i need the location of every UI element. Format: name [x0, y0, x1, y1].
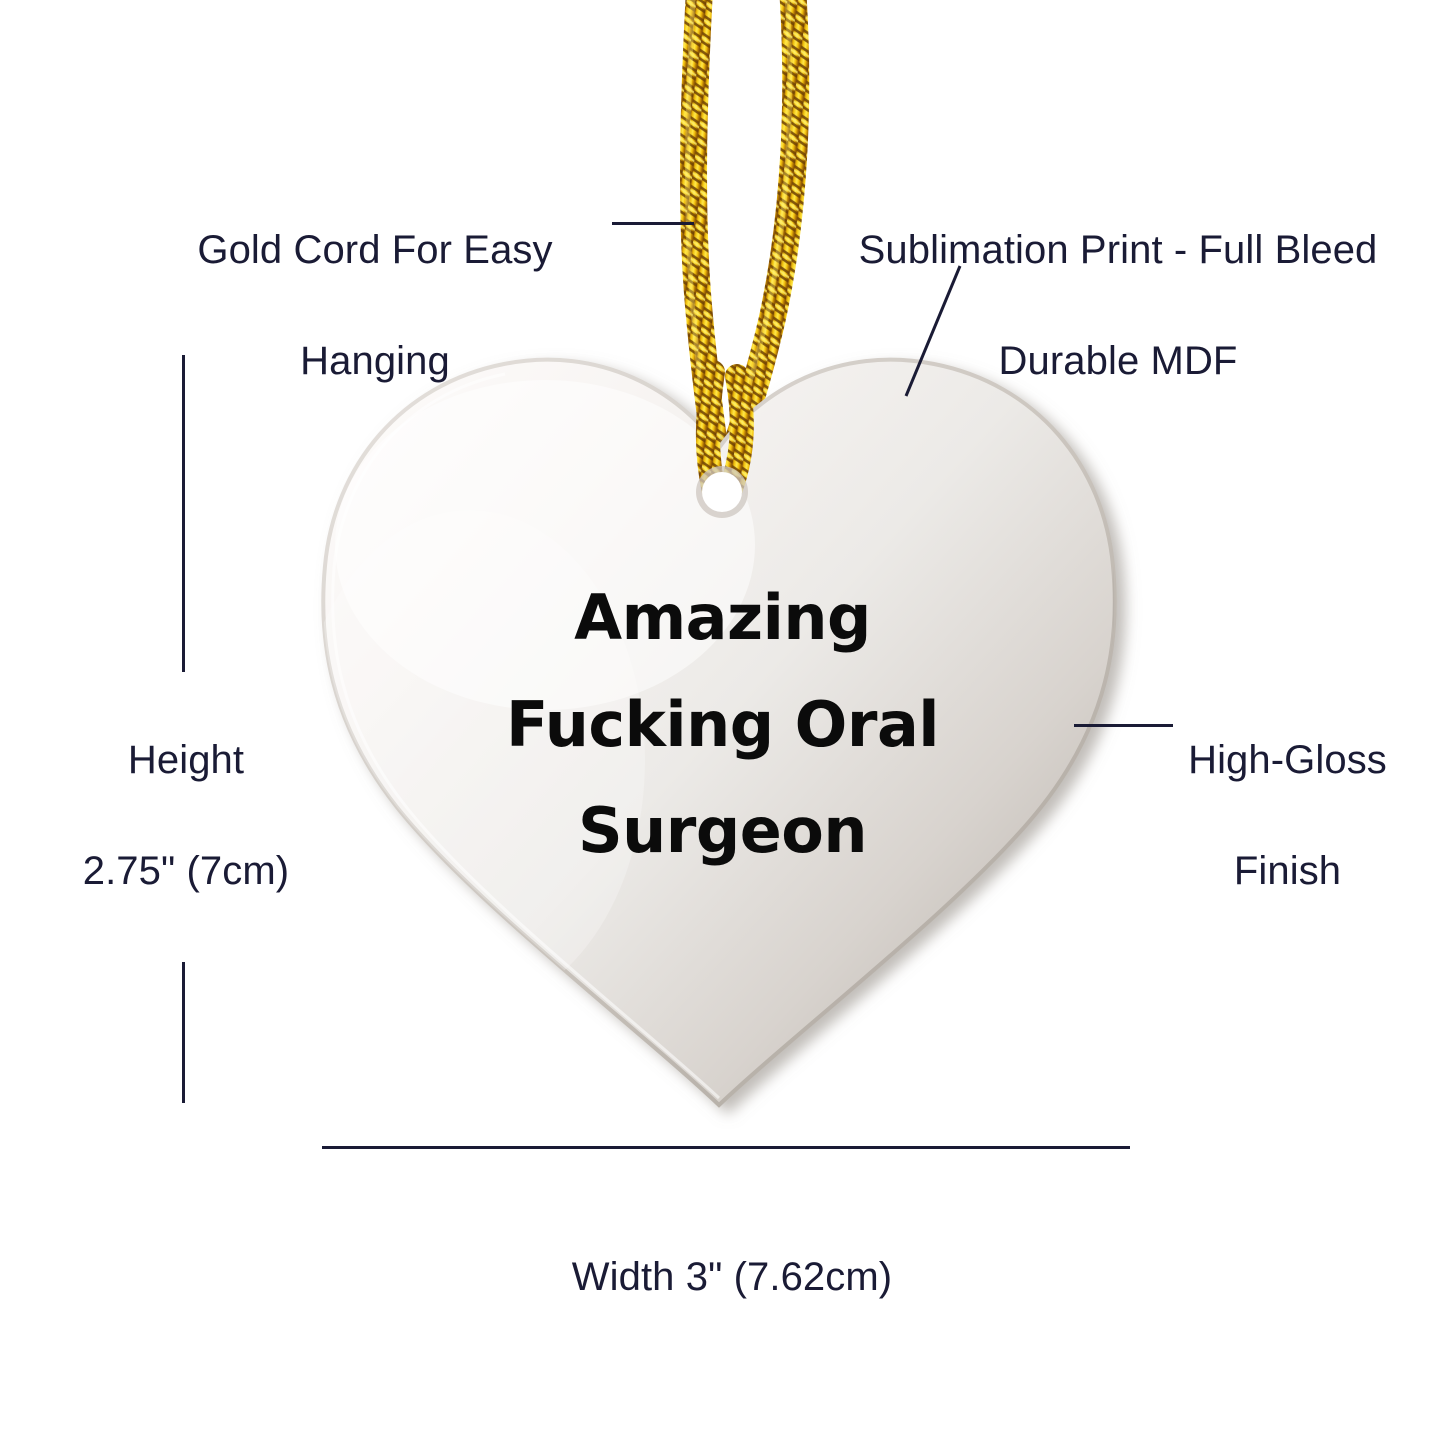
annotation-height-label: Height — [62, 733, 310, 788]
gold-cord-loop — [708, 372, 742, 494]
annotation-high-gloss-line-2: Finish — [1180, 844, 1395, 899]
annotation-sublimation-print: Sublimation Print - Full Bleed Durable M… — [848, 168, 1388, 444]
product-infographic: Amazing Fucking Oral Surgeon Gold Cord F… — [0, 0, 1445, 1445]
gold-cord-strand-right — [720, 0, 796, 478]
ornament-text-line-2: Fucking Oral — [430, 672, 1015, 779]
annotation-width: Width 3" (7.62cm) — [452, 1195, 1012, 1361]
ornament-text: Amazing Fucking Oral Surgeon — [430, 565, 1015, 885]
ornament-text-line-1: Amazing — [430, 565, 1015, 672]
annotation-gold-cord-line-1: Gold Cord For Easy — [150, 223, 600, 278]
annotation-gold-cord: Gold Cord For Easy Hanging — [150, 168, 600, 444]
hanging-hole — [696, 466, 748, 518]
annotation-height-value: 2.75" (7cm) — [62, 844, 310, 899]
annotation-height: Height 2.75" (7cm) — [62, 672, 310, 962]
annotation-sublimation-print-line-2: Durable MDF — [848, 334, 1388, 389]
annotation-width-value: Width 3" (7.62cm) — [452, 1250, 1012, 1305]
annotation-gold-cord-line-2: Hanging — [150, 334, 600, 389]
annotation-sublimation-print-line-1: Sublimation Print - Full Bleed — [848, 223, 1388, 278]
annotation-high-gloss-line-1: High-Gloss — [1180, 733, 1395, 788]
gold-cord-strand-left — [688, 0, 718, 472]
annotation-high-gloss: High-Gloss Finish — [1180, 678, 1395, 954]
leader-line-high-gloss — [1074, 724, 1173, 727]
dimension-line-width — [322, 1146, 1130, 1149]
ornament-text-line-3: Surgeon — [430, 778, 1015, 885]
leader-line-gold-cord — [612, 222, 694, 225]
